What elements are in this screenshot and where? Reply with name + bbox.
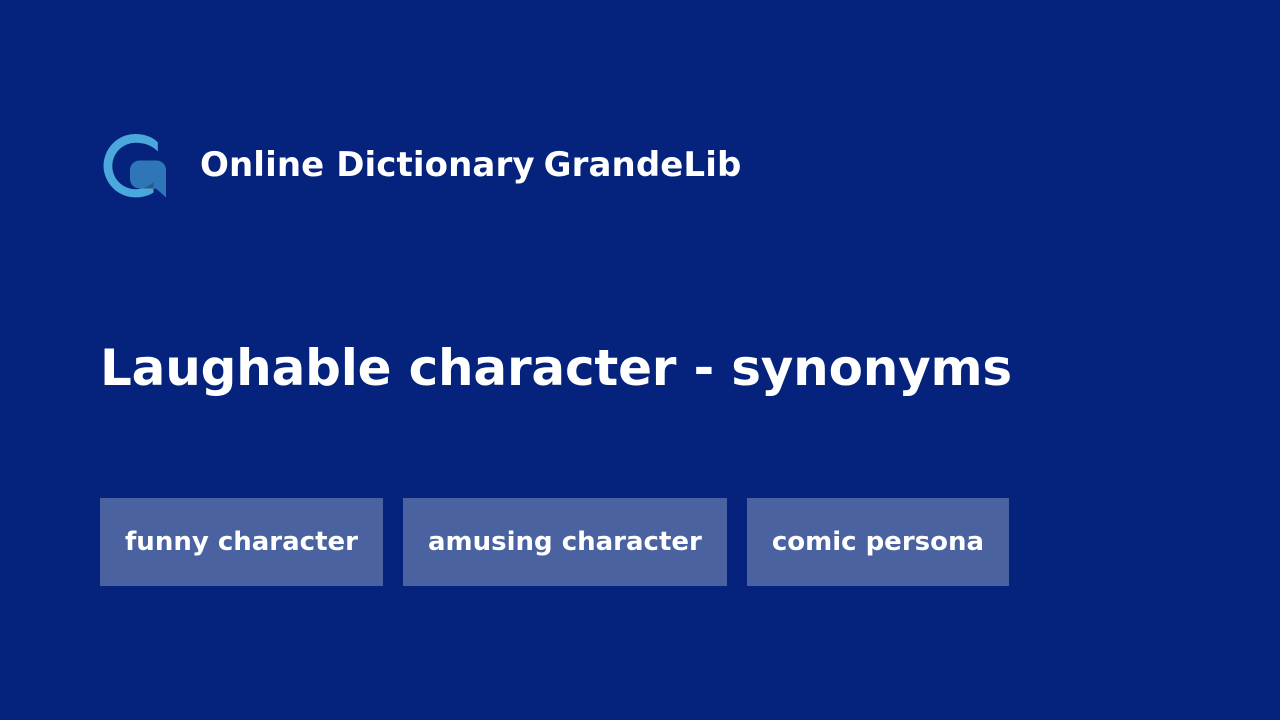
- synonym-chip[interactable]: comic persona: [747, 498, 1009, 586]
- brand-title-prefix: Online Dictionary: [200, 145, 535, 185]
- page-title: Laughable character - synonyms: [100, 339, 1012, 397]
- brand-header[interactable]: Online DictionaryGrandeLib: [100, 128, 741, 202]
- brand-title: Online DictionaryGrandeLib: [200, 148, 741, 182]
- synonym-chip[interactable]: funny character: [100, 498, 383, 586]
- page-root: Online DictionaryGrandeLib Laughable cha…: [0, 0, 1280, 720]
- synonym-chip-list: funny character amusing character comic …: [100, 498, 1009, 586]
- grandelib-g-logo-icon: [100, 130, 170, 200]
- synonym-chip[interactable]: amusing character: [403, 498, 727, 586]
- brand-name: GrandeLib: [544, 145, 742, 185]
